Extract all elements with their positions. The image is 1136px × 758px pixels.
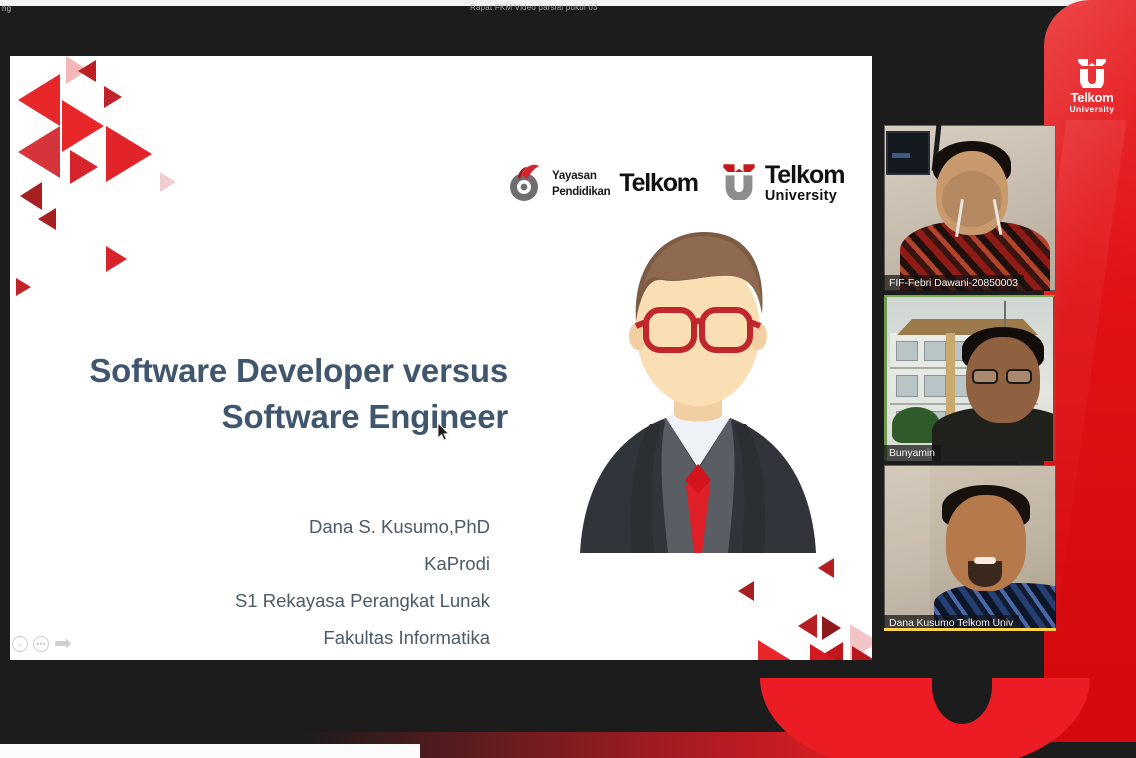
tu-line1: Telkom [765, 161, 845, 189]
telkom-university-logo: Telkom University [720, 162, 845, 205]
active-speaker-indicator [884, 628, 1056, 631]
participant-tile[interactable]: FIF-Febri Dawani-20850003 [884, 125, 1056, 291]
mouse-cursor-icon [437, 422, 450, 446]
next-slide-button[interactable]: ➡ [54, 633, 72, 654]
faculty-name: Fakultas Informatika [70, 619, 490, 656]
telkom-u-mark-icon [1075, 58, 1109, 88]
study-program: S1 Rekayasa Perangkat Lunak [70, 582, 490, 619]
slide-logos: Yayasan Pendidikan Telkom Telkom Univers… [505, 159, 865, 207]
participant-tile[interactable]: Dana Kusumo Telkom Univ [884, 465, 1056, 631]
slide-menu-button[interactable]: ••• [33, 636, 49, 652]
person-mouth [974, 557, 996, 564]
slideshow-controls[interactable]: ‹ ••• ➡ [12, 633, 72, 654]
slide-title-line2: Software Engineer [222, 398, 508, 435]
telkom-u-mark-icon-slide [720, 162, 758, 205]
banner-telkom-university-logo: Telkom University [1056, 58, 1128, 115]
previous-slide-button[interactable]: ‹ [12, 636, 28, 652]
ypt-line2: Pendidikan [552, 186, 610, 198]
slide-subtitle-block: Dana S. Kusumo,PhD KaProdi S1 Rekayasa P… [70, 508, 490, 656]
tu-line2: University [765, 188, 837, 204]
presenter-role: KaProdi [70, 545, 490, 582]
slide-title-line1: Software Developer versus [89, 352, 508, 389]
participant-tile[interactable]: Bunyamin [884, 295, 1056, 461]
yayasan-pendidikan-telkom-logo: Yayasan Pendidikan Telkom [505, 163, 698, 203]
presenter-name: Dana S. Kusumo,PhD [70, 508, 490, 545]
telkom-university-wordmark: Telkom University [765, 163, 845, 204]
participant-name-label: Bunyamin [884, 445, 941, 461]
avatar-illustration [562, 218, 834, 553]
telkom-red-banner: Telkom University [1044, 0, 1136, 742]
bottom-white-strip [0, 744, 420, 758]
banner-logo-line1: Telkom [1056, 91, 1128, 104]
wall-panel [884, 465, 930, 631]
ypt-wordmark: Yayasan Pendidikan [552, 167, 610, 200]
person-eyeglasses [972, 369, 1034, 384]
ypt-line1: Yayasan [552, 170, 597, 182]
participant-name-label: FIF-Febri Dawani-20850003 [884, 275, 1024, 291]
banner-logo-line2: University [1056, 104, 1128, 115]
shared-presentation-slide[interactable]: Yayasan Pendidikan Telkom Telkom Univers… [10, 56, 872, 660]
person-beard [968, 561, 1002, 587]
monitor-object [886, 131, 930, 175]
bottom-red-swoosh [760, 678, 1090, 758]
window-title-fragment-center: Rapat FKM Video parsial pukul 03 [470, 3, 598, 13]
participant-video-tiles: FIF-Febri Dawani-20850003 [884, 125, 1056, 635]
window-title-fragment-left: ng [2, 4, 11, 14]
ypt-mark-icon [505, 163, 545, 203]
ypt-brand: Telkom [619, 169, 697, 198]
screen-root: ng Rapat FKM Video parsial pukul 03 Telk… [0, 0, 1136, 758]
